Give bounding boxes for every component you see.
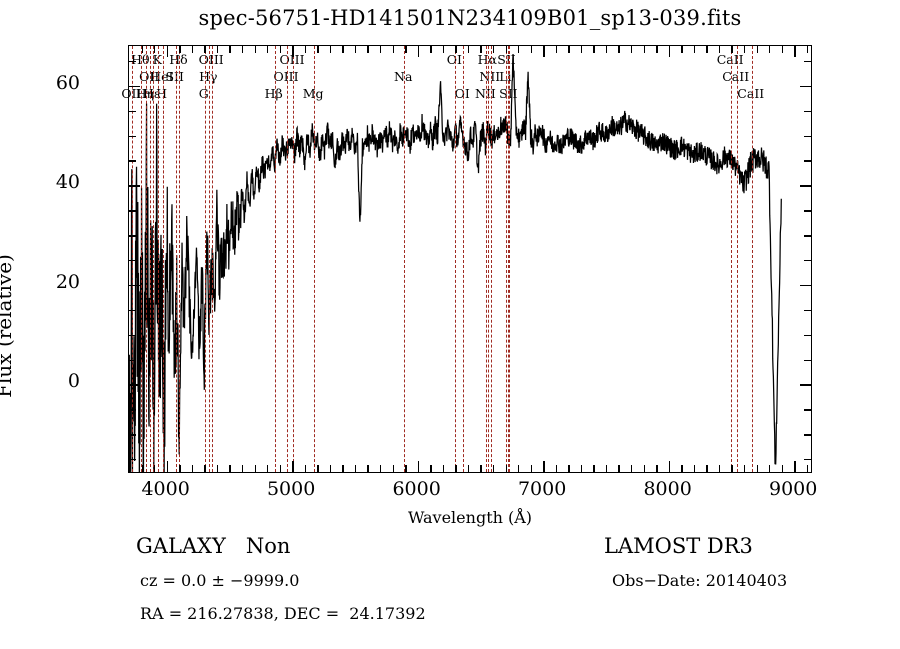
x-tick [179,46,180,53]
x-tick [794,46,795,57]
x-tick [606,465,607,472]
spectral-line-marker [212,46,213,472]
x-tick [393,465,394,472]
y-tick [129,384,140,385]
x-tick [480,46,481,53]
x-tick [644,46,645,53]
y-tick [800,185,811,186]
y-tick [129,235,136,236]
y-tick [129,86,140,87]
y-tick [129,409,136,410]
x-tick [455,46,456,53]
x-tick [493,46,494,53]
y-tick [129,335,136,336]
x-tick [355,465,356,472]
object-class: GALAXY Non [136,534,290,558]
x-tick [807,46,808,53]
x-tick [255,465,256,472]
x-tick [531,465,532,472]
spectrum-viewer: spec-56751-HD141501N234109B01_sp13-039.f… [0,0,900,649]
y-tick [800,285,811,286]
spectral-line-marker [293,46,294,472]
x-tick [154,465,155,472]
y-tick-label: 40 [20,171,80,193]
y-tick [804,459,811,460]
y-tick-label: 20 [20,271,80,293]
x-tick [706,46,707,53]
x-tick [330,46,331,53]
x-tick [142,465,143,472]
x-tick [518,46,519,53]
x-tick [694,46,695,53]
x-tick [317,46,318,53]
x-tick [556,465,557,472]
x-tick [681,465,682,472]
x-tick [794,461,795,472]
x-tick [267,46,268,53]
x-tick [443,465,444,472]
y-axis-label: Flux (relative) [0,176,16,476]
x-tick [242,465,243,472]
x-tick [142,46,143,53]
y-tick [129,285,140,286]
x-tick-label: 9000 [748,478,838,500]
y-tick [129,210,136,211]
x-tick [769,46,770,53]
y-tick [800,384,811,385]
x-tick [367,46,368,53]
x-tick [342,465,343,472]
y-tick [129,111,136,112]
x-tick [393,46,394,53]
spectral-line-marker [150,46,151,472]
x-tick-label: 7000 [497,478,587,500]
x-tick [606,46,607,53]
x-tick [506,46,507,53]
y-tick [129,434,136,435]
spectral-line-marker [176,46,177,472]
x-tick [581,46,582,53]
x-tick [217,465,218,472]
coordinates-value: RA = 216.27838, DEC = 24.17392 [140,604,426,623]
spectral-line-marker [752,46,753,472]
y-tick [804,360,811,361]
x-tick [531,46,532,53]
x-tick [380,465,381,472]
x-tick [556,46,557,53]
x-tick [342,46,343,53]
y-tick [804,434,811,435]
x-tick [706,465,707,472]
obs-date: Obs−Date: 20140403 [612,571,787,590]
y-tick [800,86,811,87]
x-tick [468,465,469,472]
x-tick [305,46,306,53]
x-tick [192,465,193,472]
x-tick [568,46,569,53]
x-tick [593,465,594,472]
x-tick [719,46,720,53]
spectral-line-marker [287,46,288,472]
x-tick [292,46,293,57]
x-tick [380,46,381,53]
spectral-line-marker [146,46,147,472]
spectral-line-marker [179,46,180,472]
x-tick [229,46,230,53]
x-tick [280,465,281,472]
x-tick [167,46,168,57]
x-tick [631,46,632,53]
y-tick [804,335,811,336]
spectral-line-marker [463,46,464,472]
y-tick-label: 60 [20,72,80,94]
x-tick [618,465,619,472]
plot-frame [128,45,812,473]
x-tick [305,465,306,472]
y-tick [804,409,811,410]
y-tick [129,61,136,62]
x-tick [757,465,758,472]
spectral-line-marker [455,46,456,472]
x-tick [229,465,230,472]
y-tick [804,310,811,311]
x-tick [217,46,218,53]
x-tick [280,46,281,53]
x-tick [543,46,544,57]
x-tick [681,46,682,53]
x-tick [204,465,205,472]
x-tick [242,46,243,53]
spectral-line-marker [404,46,405,472]
spectral-line-marker [491,46,492,472]
x-tick [669,46,670,57]
x-tick [204,46,205,53]
x-tick [418,46,419,57]
spectral-line-marker [508,46,509,472]
x-tick-label: 6000 [372,478,462,500]
x-tick [618,46,619,53]
x-tick [656,465,657,472]
x-tick [405,46,406,53]
page-title: spec-56751-HD141501N234109B01_sp13-039.f… [128,6,812,30]
spectral-line-marker [737,46,738,472]
x-tick [355,46,356,53]
x-tick [581,465,582,472]
spectral-line-marker [731,46,732,472]
x-tick [455,465,456,472]
y-tick [804,160,811,161]
x-tick [568,465,569,472]
x-tick [518,465,519,472]
x-tick [493,465,494,472]
y-tick-label: 0 [20,370,80,392]
x-tick [167,461,168,472]
y-tick [129,459,136,460]
y-tick [804,136,811,137]
x-tick [430,465,431,472]
spectral-line-marker [153,46,154,472]
x-tick [593,46,594,53]
x-tick [330,465,331,472]
x-tick [154,46,155,53]
spectral-line-marker [205,46,206,472]
x-tick [744,46,745,53]
x-tick [782,46,783,53]
spectral-line-marker [275,46,276,472]
spectral-line-marker [486,46,487,472]
x-tick [506,465,507,472]
y-tick [804,210,811,211]
x-tick [769,465,770,472]
x-tick [468,46,469,53]
x-tick [543,461,544,472]
spectrum-trace [129,46,812,473]
x-tick [744,465,745,472]
spectral-line-marker [209,46,210,472]
y-tick [129,360,136,361]
spectral-line-marker [509,46,510,472]
y-tick [804,260,811,261]
x-tick [807,465,808,472]
x-tick [731,46,732,53]
y-tick [804,61,811,62]
x-tick [405,465,406,472]
x-tick [255,46,256,53]
x-tick [317,465,318,472]
x-tick [694,465,695,472]
y-tick [129,260,136,261]
y-tick [804,235,811,236]
x-axis-label: Wavelength (Å) [128,508,812,527]
spectral-line-marker [158,46,159,472]
spectral-line-marker [314,46,315,472]
x-tick [731,465,732,472]
x-tick [656,46,657,53]
x-tick [719,465,720,472]
x-tick [631,465,632,472]
x-tick [782,465,783,472]
x-tick [757,46,758,53]
y-tick [129,160,136,161]
x-tick-label: 4000 [121,478,211,500]
x-tick [267,465,268,472]
x-tick [480,465,481,472]
x-tick-label: 8000 [623,478,713,500]
spectral-line-marker [163,46,164,472]
x-tick [418,461,419,472]
x-tick [179,465,180,472]
x-tick [669,461,670,472]
y-tick [804,111,811,112]
spectral-line-marker [488,46,489,472]
x-tick [192,46,193,53]
survey-label: LAMOST DR3 [604,534,753,558]
x-tick [367,465,368,472]
y-tick [129,136,136,137]
redshift-value: cz = 0.0 ± −9999.0 [140,571,299,590]
x-tick [644,465,645,472]
x-tick [292,461,293,472]
x-tick-label: 5000 [246,478,336,500]
y-tick [129,185,140,186]
spectral-line-marker [141,46,142,472]
x-tick [443,46,444,53]
x-tick [430,46,431,53]
y-tick [129,310,136,311]
